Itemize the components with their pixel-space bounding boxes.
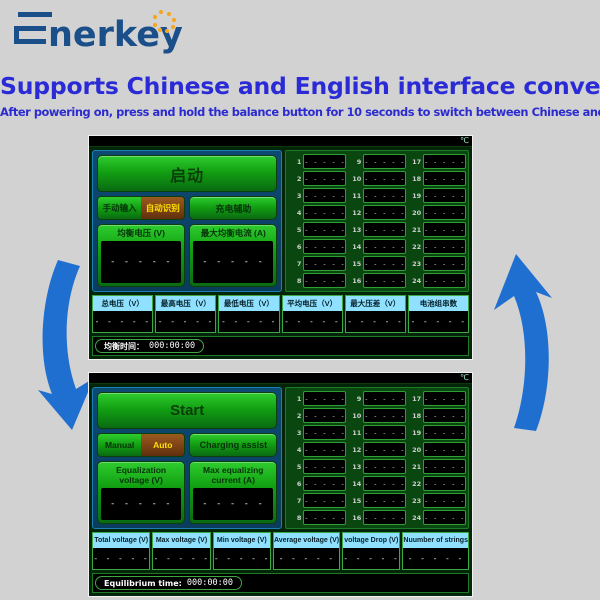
cell-index-label: 2 [288,412,301,420]
cell-index-label: 7 [288,260,301,268]
summary-label: 电池组串数 [409,296,468,311]
cell-index-label: 12 [348,209,361,217]
cell-index-label: 2 [288,175,301,183]
summary-label: 总电压（V） [93,296,152,311]
summary-cell: 总电压（V）- - - - - [92,295,153,333]
max-equalizing-current-field[interactable]: Max equalizing current (A) - - - - - [189,461,277,524]
summary-label: Nuumber of strings [403,533,468,548]
field-label: Equalization voltage (V) [101,464,181,486]
cell-index-label: 21 [408,463,421,471]
mode-option-manual[interactable]: 手动输入 [98,197,141,219]
field-value: - - - - - [101,488,181,520]
field-value: - - - - - [101,241,181,283]
cell-voltage-value: - - - - - [423,459,466,474]
cell-voltage-value: - - - - - [303,425,346,440]
cell-voltage-value: - - - - - [423,408,466,423]
cell-readout: 19- - - - - [408,425,466,440]
cell-readout: 5- - - - - [288,222,346,237]
cell-index-label: 19 [408,192,421,200]
cell-readout: 13- - - - - [348,222,406,237]
cell-index-label: 18 [408,175,421,183]
panel-body: 启动 手动输入 自动识别 充电辅助 均衡电压 (V) - - - - - 最大均… [89,147,472,359]
cell-voltage-value: - - - - - [423,493,466,508]
equilibrium-time-value: 000:00:00 [187,578,233,588]
cell-voltage-value: - - - - - [363,171,406,186]
cell-index-label: 16 [348,514,361,522]
panel-upper-area: 启动 手动输入 自动识别 充电辅助 均衡电压 (V) - - - - - 最大均… [92,150,469,292]
cell-readout: 6- - - - - [288,239,346,254]
cell-index-label: 8 [288,277,301,285]
cell-voltage-value: - - - - - [303,493,346,508]
summary-label: Max voltage (V) [153,533,209,548]
cell-voltage-value: - - - - - [363,442,406,457]
summary-cell: 最低电压（V）- - - - - [218,295,279,333]
summary-strip: 总电压（V）- - - - -最高电压（V）- - - - -最低电压（V）- … [92,295,469,333]
cell-readout: 17- - - - - [408,154,466,169]
cell-index-label: 18 [408,412,421,420]
cell-column: 1- - - - -2- - - - -3- - - - -4- - - - -… [288,154,346,288]
field-label: 最大均衡电流 (A) [193,227,273,239]
cell-voltage-value: - - - - - [303,391,346,406]
status-message-area [245,576,466,590]
control-block: 启动 手动输入 自动识别 充电辅助 均衡电压 (V) - - - - - 最大均… [92,150,282,292]
cell-voltage-value: - - - - - [303,459,346,474]
cell-voltage-value: - - - - - [303,442,346,457]
cell-voltage-value: - - - - - [363,476,406,491]
cell-voltage-value: - - - - - [363,273,406,288]
cell-voltage-value: - - - - - [423,222,466,237]
status-bar: 均衡时间： 000:00:00 [92,336,469,356]
summary-value: - - - - - [219,311,278,332]
start-button[interactable]: Start [97,392,277,429]
cell-voltage-value: - - - - - [423,205,466,220]
summary-label: Total voltage (V) [93,533,149,548]
enerkey-logo-icon: nerkey [14,6,214,58]
control-row-fields: 均衡电压 (V) - - - - - 最大均衡电流 (A) - - - - - [97,224,277,287]
cell-readout: 7- - - - - [288,493,346,508]
summary-cell: 最大压差（V）- - - - - [345,295,406,333]
status-bar: Equilibrium time: 000:00:00 [92,573,469,593]
cell-index-label: 11 [348,429,361,437]
cell-readout: 16- - - - - [348,273,406,288]
cell-readout: 14- - - - - [348,239,406,254]
charging-assist-button[interactable]: 充电辅助 [189,196,277,220]
cell-voltage-value: - - - - - [363,256,406,271]
summary-label: voltage Drop (V) [343,533,399,548]
cell-index-label: 15 [348,260,361,268]
equilibrium-time-value: 000:00:00 [149,341,195,351]
cell-voltage-value: - - - - - [363,459,406,474]
cell-voltage-value: - - - - - [303,273,346,288]
summary-label: 最低电压（V） [219,296,278,311]
cell-readout: 9- - - - - [348,154,406,169]
cell-readout: 17- - - - - [408,391,466,406]
page-subtitle: After powering on, press and hold the ba… [0,105,600,119]
cell-readout: 6- - - - - [288,476,346,491]
cell-index-label: 13 [348,226,361,234]
cell-voltage-value: - - - - - [303,188,346,203]
cell-readout: 1- - - - - [288,154,346,169]
mode-option-auto[interactable]: 自动识别 [141,197,184,219]
cell-voltage-value: - - - - - [303,222,346,237]
page-title: Supports Chinese and English interface c… [0,72,600,100]
summary-cell: voltage Drop (V)- - - - - [342,532,400,570]
cell-index-label: 6 [288,480,301,488]
equilibrium-time-pill: 均衡时间： 000:00:00 [95,339,204,353]
control-row-fields: Equalization voltage (V) - - - - - Max e… [97,461,277,524]
summary-value: - - - - - [409,311,468,332]
cell-index-label: 22 [408,480,421,488]
cell-voltage-value: - - - - - [303,239,346,254]
equilibrium-time-pill: Equilibrium time: 000:00:00 [95,576,242,590]
cell-index-label: 24 [408,277,421,285]
cell-readout: 3- - - - - [288,188,346,203]
cell-voltage-value: - - - - - [303,256,346,271]
cell-index-label: 11 [348,192,361,200]
cell-voltage-grid: 1- - - - -2- - - - -3- - - - -4- - - - -… [285,387,469,529]
cell-index-label: 1 [288,158,301,166]
cell-readout: 21- - - - - [408,459,466,474]
cell-index-label: 24 [408,514,421,522]
cell-index-label: 4 [288,209,301,217]
cell-readout: 22- - - - - [408,239,466,254]
cell-index-label: 9 [348,395,361,403]
cell-index-label: 17 [408,395,421,403]
cell-voltage-value: - - - - - [303,171,346,186]
cell-index-label: 23 [408,497,421,505]
cell-index-label: 14 [348,480,361,488]
cell-voltage-value: - - - - - [363,391,406,406]
cell-index-label: 23 [408,260,421,268]
cell-index-label: 21 [408,226,421,234]
cell-voltage-value: - - - - - [423,273,466,288]
cell-readout: 10- - - - - [348,408,406,423]
cell-voltage-value: - - - - - [363,425,406,440]
cell-readout: 8- - - - - [288,273,346,288]
summary-cell: 最高电压（V）- - - - - [155,295,216,333]
summary-value: - - - - - [153,548,209,569]
cell-voltage-value: - - - - - [303,205,346,220]
cell-readout: 23- - - - - [408,256,466,271]
cell-voltage-value: - - - - - [423,154,466,169]
cell-index-label: 17 [408,158,421,166]
summary-value: - - - - - [283,311,342,332]
cell-voltage-value: - - - - - [423,476,466,491]
summary-value: - - - - - [93,548,149,569]
summary-value: - - - - - [93,311,152,332]
cell-voltage-value: - - - - - [363,222,406,237]
cell-readout: 2- - - - - [288,171,346,186]
cell-voltage-value: - - - - - [423,510,466,525]
cell-voltage-value: - - - - - [303,476,346,491]
cell-column: 9- - - - -10- - - - -11- - - - -12- - - … [348,154,406,288]
summary-value: - - - - - [214,548,270,569]
cell-column: 17- - - - -18- - - - -19- - - - -20- - -… [408,391,466,525]
cell-readout: 2- - - - - [288,408,346,423]
cell-readout: 1- - - - - [288,391,346,406]
panel-body: Start Manual Auto Charging assist Equali… [89,384,472,596]
cell-index-label: 10 [348,412,361,420]
max-equalizing-current-field[interactable]: 最大均衡电流 (A) - - - - - [189,224,277,287]
cell-readout: 18- - - - - [408,408,466,423]
mode-option-auto[interactable]: Auto [141,434,184,456]
cell-voltage-value: - - - - - [303,154,346,169]
svg-text:nerkey: nerkey [48,15,183,55]
cell-column: 17- - - - -18- - - - -19- - - - -20- - -… [408,154,466,288]
summary-cell: 电池组串数- - - - - [408,295,469,333]
cell-voltage-value: - - - - - [363,239,406,254]
cell-index-label: 16 [348,277,361,285]
cell-index-label: 7 [288,497,301,505]
cell-readout: 24- - - - - [408,273,466,288]
equilibrium-time-label: 均衡时间： [104,341,144,352]
summary-label: Min voltage (V) [214,533,270,548]
temperature-unit-label: ℃ [460,372,469,383]
control-block: Start Manual Auto Charging assist Equali… [92,387,282,529]
mode-toggle[interactable]: Manual Auto [97,433,185,457]
summary-value: - - - - - [403,548,468,569]
cell-index-label: 1 [288,395,301,403]
cell-index-label: 13 [348,463,361,471]
panel-upper-area: Start Manual Auto Charging assist Equali… [92,387,469,529]
summary-label: 最大压差（V） [346,296,405,311]
summary-value: - - - - - [346,311,405,332]
mode-option-manual[interactable]: Manual [98,434,141,456]
summary-cell: Max voltage (V)- - - - - [152,532,210,570]
cell-readout: 19- - - - - [408,188,466,203]
cell-column: 1- - - - -2- - - - -3- - - - -4- - - - -… [288,391,346,525]
control-row-mode: 手动输入 自动识别 充电辅助 [97,196,277,220]
control-row-mode: Manual Auto Charging assist [97,433,277,457]
cell-readout: 7- - - - - [288,256,346,271]
equalization-voltage-field[interactable]: Equalization voltage (V) - - - - - [97,461,185,524]
cell-index-label: 15 [348,497,361,505]
cell-voltage-value: - - - - - [423,239,466,254]
cell-index-label: 12 [348,446,361,454]
cell-readout: 24- - - - - [408,510,466,525]
start-button[interactable]: 启动 [97,155,277,192]
field-value: - - - - - [193,241,273,283]
cell-readout: 12- - - - - [348,205,406,220]
field-value: - - - - - [193,488,273,520]
cell-index-label: 14 [348,243,361,251]
cell-readout: 11- - - - - [348,425,406,440]
cell-index-label: 5 [288,226,301,234]
cell-index-label: 5 [288,463,301,471]
device-panel-chinese: ℃ 启动 手动输入 自动识别 充电辅助 均衡电压 (V) - - - - - [88,135,473,360]
field-label: Max equalizing current (A) [193,464,273,486]
cell-readout: 3- - - - - [288,425,346,440]
cell-index-label: 3 [288,429,301,437]
summary-label: 最高电压（V） [156,296,215,311]
cell-voltage-value: - - - - - [303,408,346,423]
cell-voltage-value: - - - - - [423,256,466,271]
field-label: 均衡电压 (V) [101,227,181,239]
cell-index-label: 20 [408,446,421,454]
cell-index-label: 9 [348,158,361,166]
cell-readout: 4- - - - - [288,205,346,220]
panel-titlebar: ℃ [89,373,472,384]
cell-readout: 18- - - - - [408,171,466,186]
cell-readout: 4- - - - - [288,442,346,457]
cell-voltage-value: - - - - - [423,442,466,457]
summary-value: - - - - - [274,548,339,569]
cell-voltage-value: - - - - - [303,510,346,525]
cell-readout: 20- - - - - [408,442,466,457]
cell-voltage-value: - - - - - [363,408,406,423]
cell-readout: 20- - - - - [408,205,466,220]
cell-readout: 13- - - - - [348,459,406,474]
cell-index-label: 20 [408,209,421,217]
cell-index-label: 22 [408,243,421,251]
cell-voltage-grid: 1- - - - -2- - - - -3- - - - -4- - - - -… [285,150,469,292]
summary-strip: Total voltage (V)- - - - -Max voltage (V… [92,532,469,570]
temperature-unit-label: ℃ [460,135,469,146]
cell-index-label: 3 [288,192,301,200]
cell-column: 9- - - - -10- - - - -11- - - - -12- - - … [348,391,406,525]
curved-arrow-up-icon [478,248,564,433]
equalization-voltage-field[interactable]: 均衡电压 (V) - - - - - [97,224,185,287]
panel-titlebar: ℃ [89,136,472,147]
cell-readout: 11- - - - - [348,188,406,203]
cell-readout: 21- - - - - [408,222,466,237]
cell-voltage-value: - - - - - [423,391,466,406]
cell-voltage-value: - - - - - [363,154,406,169]
cell-voltage-value: - - - - - [363,493,406,508]
cell-voltage-value: - - - - - [423,188,466,203]
summary-value: - - - - - [156,311,215,332]
cell-readout: 15- - - - - [348,256,406,271]
cell-readout: 12- - - - - [348,442,406,457]
summary-cell: Average voltage (V)- - - - - [273,532,340,570]
brand-logo: nerkey [14,6,214,58]
cell-index-label: 8 [288,514,301,522]
cell-index-label: 19 [408,429,421,437]
summary-cell: Nuumber of strings- - - - - [402,532,469,570]
device-panel-english: ℃ Start Manual Auto Charging assist Equa… [88,372,473,597]
cell-readout: 10- - - - - [348,171,406,186]
cell-readout: 5- - - - - [288,459,346,474]
cell-readout: 23- - - - - [408,493,466,508]
status-message-area [207,339,466,353]
cell-voltage-value: - - - - - [363,205,406,220]
cell-readout: 14- - - - - [348,476,406,491]
mode-toggle[interactable]: 手动输入 自动识别 [97,196,185,220]
summary-value: - - - - - [343,548,399,569]
cell-readout: 22- - - - - [408,476,466,491]
cell-readout: 8- - - - - [288,510,346,525]
equilibrium-time-label: Equilibrium time: [104,579,182,588]
summary-cell: 平均电压（V）- - - - - [282,295,343,333]
cell-readout: 9- - - - - [348,391,406,406]
summary-cell: Min voltage (V)- - - - - [213,532,271,570]
summary-cell: Total voltage (V)- - - - - [92,532,150,570]
cell-readout: 15- - - - - [348,493,406,508]
cell-index-label: 6 [288,243,301,251]
cell-voltage-value: - - - - - [423,425,466,440]
cell-readout: 16- - - - - [348,510,406,525]
summary-label: 平均电压（V） [283,296,342,311]
cell-voltage-value: - - - - - [363,510,406,525]
summary-label: Average voltage (V) [274,533,339,548]
cell-index-label: 4 [288,446,301,454]
charging-assist-button[interactable]: Charging assist [189,433,277,457]
cell-voltage-value: - - - - - [363,188,406,203]
cell-index-label: 10 [348,175,361,183]
cell-voltage-value: - - - - - [423,171,466,186]
